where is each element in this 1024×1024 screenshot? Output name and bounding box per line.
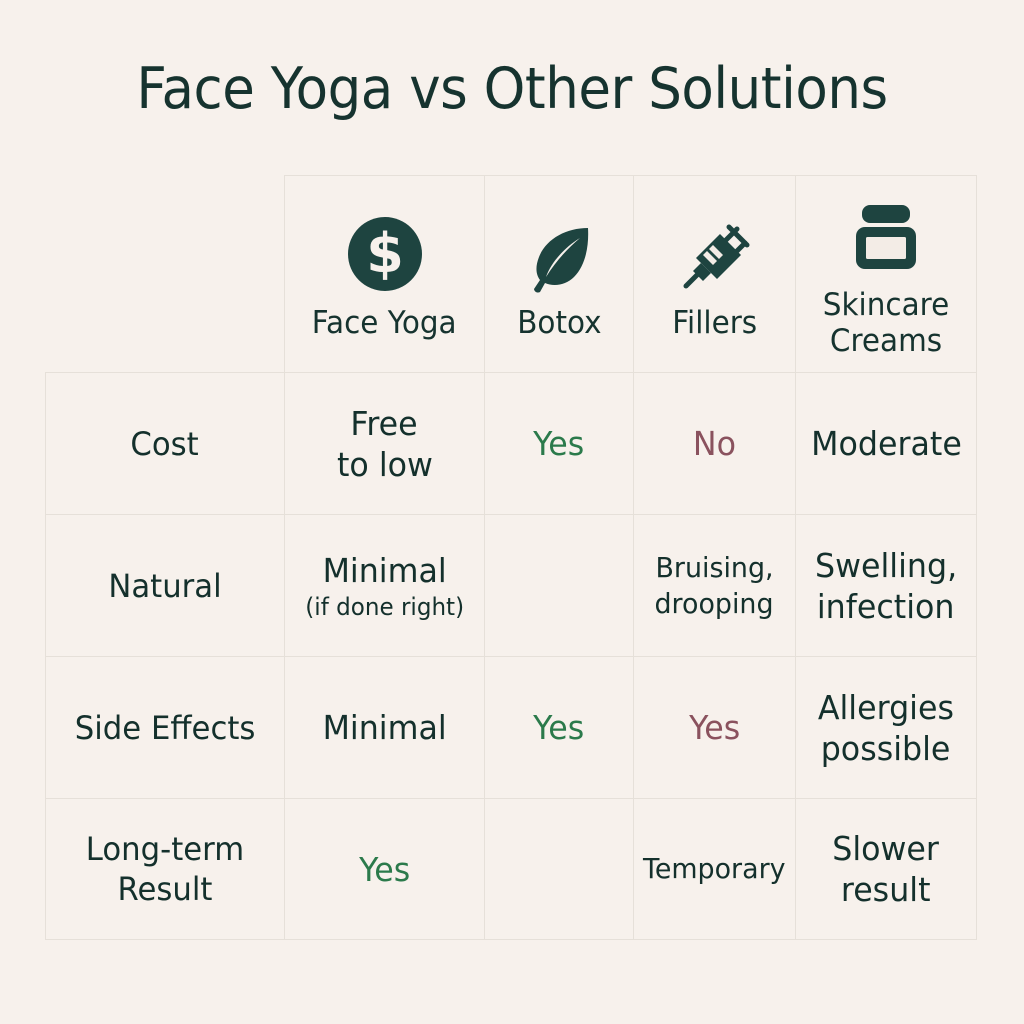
table-cell: Minimal (if done right) <box>284 514 484 656</box>
table-cell: Yes <box>284 798 484 940</box>
syringe-icon <box>679 207 751 293</box>
column-header-face-yoga: $ Face Yoga <box>284 175 484 372</box>
row-label-cell: Long-term Result <box>45 798 284 940</box>
row-label-cell: Natural <box>45 514 284 656</box>
table-cell <box>484 798 633 940</box>
row-label-cell: Cost <box>45 372 284 514</box>
dollar-circle-icon: $ <box>346 207 424 293</box>
table-header-row: $ Face Yoga Botox <box>45 175 977 372</box>
table-cell <box>484 514 633 656</box>
table-cell: No <box>633 372 795 514</box>
table-cell: Swelling, infection <box>795 514 977 656</box>
column-header-label: Face Yoga <box>312 305 457 341</box>
cell-value-secondline: possible <box>821 728 951 769</box>
cell-value: Minimal <box>322 707 446 748</box>
row-label: Cost <box>131 424 199 464</box>
table-cell: Temporary <box>633 798 795 940</box>
comparison-table: $ Face Yoga Botox <box>45 175 977 940</box>
row-label-cell: Side Effects <box>45 656 284 798</box>
table-cell: Moderate <box>795 372 977 514</box>
row-label: Side Effects <box>75 708 256 748</box>
page-title: Face Yoga vs Other Solutions <box>36 52 988 126</box>
cell-value: Swelling, <box>815 545 957 586</box>
table-cell: Yes <box>633 656 795 798</box>
table-row: Side Effects Minimal Yes Yes Allergies p… <box>45 656 977 798</box>
cell-value: No <box>693 423 736 464</box>
leaf-icon <box>524 207 594 293</box>
cell-value: Yes <box>533 707 584 748</box>
cell-value-secondline: result <box>841 869 931 910</box>
table-cell: Slower result <box>795 798 977 940</box>
table-cell: Minimal <box>284 656 484 798</box>
cell-value-secondline: infection <box>817 586 955 627</box>
table-cell: Yes <box>484 372 633 514</box>
column-header-label: Botox <box>517 305 601 341</box>
cream-jar-icon <box>848 189 924 275</box>
cell-value: Yes <box>533 423 584 464</box>
cell-value: Minimal <box>322 550 446 591</box>
row-label: Natural <box>108 566 221 606</box>
cell-value: Temporary <box>643 851 786 887</box>
cell-value: Yes <box>359 849 410 890</box>
svg-text:$: $ <box>366 222 404 285</box>
table-cell: Bruising, drooping <box>633 514 795 656</box>
table-cell: Free to low <box>284 372 484 514</box>
cell-value: Moderate <box>811 423 962 464</box>
cell-value-secondline: drooping <box>655 586 774 622</box>
infographic-canvas: Face Yoga vs Other Solutions $ Face Yoga <box>0 0 1024 1024</box>
column-header-label: Fillers <box>672 305 757 341</box>
column-header-fillers: Fillers <box>633 175 795 372</box>
column-header-skincare-creams: Skincare Creams <box>795 175 977 372</box>
table-row: Cost Free to low Yes No Moderate <box>45 372 977 514</box>
cell-value: Free <box>351 403 418 444</box>
column-header-botox: Botox <box>484 175 633 372</box>
table-cell: Yes <box>484 656 633 798</box>
table-row: Natural Minimal (if done right) Bruising… <box>45 514 977 656</box>
table-row: Long-term Result Yes Temporary Slower re… <box>45 798 977 940</box>
table-corner-cell <box>45 175 284 372</box>
cell-value: Allergies <box>818 687 954 728</box>
column-header-label: Skincare Creams <box>808 287 964 359</box>
cell-value: Slower <box>833 828 940 869</box>
table-cell: Allergies possible <box>795 656 977 798</box>
cell-value-note: (if done right) <box>305 592 464 622</box>
cell-value-secondline: to low <box>337 444 433 485</box>
row-label: Long-term Result <box>58 829 271 909</box>
cell-value: Yes <box>689 707 740 748</box>
cell-value: Bruising, <box>655 550 773 586</box>
